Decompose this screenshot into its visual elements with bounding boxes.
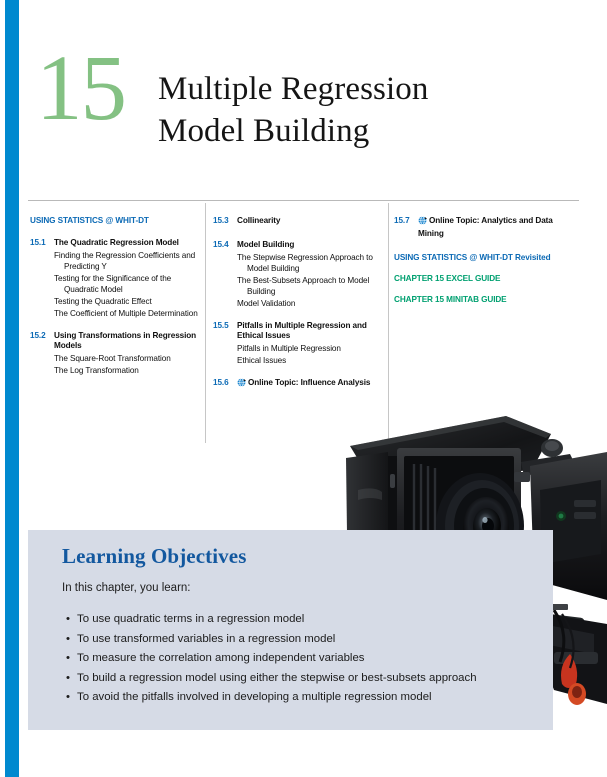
toc-entry-15-2[interactable]: 15.2 Using Transformations in Regression… <box>30 331 198 353</box>
learning-objectives-title: Learning Objectives <box>62 544 246 569</box>
toc-subentry[interactable]: The Square-Root Transformation <box>54 354 198 365</box>
toc-subentry[interactable]: The Stepwise Regression Approach to Mode… <box>237 253 381 275</box>
toc-section-number: 15.1 <box>30 238 54 249</box>
learning-objectives-intro: In this chapter, you learn: <box>62 582 191 594</box>
column-divider-1 <box>205 203 206 443</box>
chapter-title-line-1: Multiple Regression <box>158 69 428 111</box>
toc-section-number: 15.2 <box>30 331 54 353</box>
chapter-number: 15 <box>36 42 125 135</box>
chapter-header: 15 Multiple Regression Model Building <box>36 52 556 182</box>
toc-subentry[interactable]: The Coefficient of Multiple Determinatio… <box>54 309 198 320</box>
toc-section-title-text: Online Topic: Analytics and Data Mining <box>418 216 553 238</box>
toc-subentry[interactable]: Testing for the Significance of the Quad… <box>54 274 198 296</box>
toc-section-number: 15.5 <box>213 321 237 343</box>
using-statistics-header[interactable]: USING STATISTICS @ WHIT-DT <box>30 216 198 227</box>
textbook-chapter-opener-page: 15 Multiple Regression Model Building US… <box>0 0 607 777</box>
toc-section-number: 15.3 <box>213 216 237 227</box>
learning-objectives-list: To use quadratic terms in a regression m… <box>66 610 546 708</box>
globe-icon <box>418 216 427 229</box>
toc-section-title: Online Topic: Influence Analysis <box>237 378 370 391</box>
excel-guide-link[interactable]: CHAPTER 15 EXCEL GUIDE <box>394 274 576 285</box>
toc-entry-15-7[interactable]: 15.7 Online Topic: Analytics and Data Mi… <box>394 216 576 240</box>
toc-section-title-text: Online Topic: Influence Analysis <box>248 378 370 387</box>
list-item: To use transformed variables in a regres… <box>66 630 546 650</box>
toc-subentry[interactable]: Testing the Quadratic Effect <box>54 297 198 308</box>
toc-subentry[interactable]: The Best-Subsets Approach to Model Build… <box>237 276 381 298</box>
toc-entry-15-6[interactable]: 15.6 Online Topic: Influence Analysis <box>213 378 381 391</box>
minitab-guide-link[interactable]: CHAPTER 15 MINITAB GUIDE <box>394 295 576 306</box>
list-item: To measure the correlation among indepen… <box>66 649 546 669</box>
header-divider-rule <box>28 200 579 201</box>
toc-entry-15-4[interactable]: 15.4 Model Building <box>213 240 381 251</box>
toc-column-1: USING STATISTICS @ WHIT-DT 15.1 The Quad… <box>30 216 198 377</box>
using-statistics-revisited-link[interactable]: USING STATISTICS @ WHIT-DT Revisited <box>394 253 576 264</box>
toc-section-title: Collinearity <box>237 216 280 227</box>
toc-section-title: Pitfalls in Multiple Regression and Ethi… <box>237 321 381 343</box>
toc-subentry[interactable]: The Log Transformation <box>54 366 198 377</box>
toc-column-3: 15.7 Online Topic: Analytics and Data Mi… <box>394 216 576 306</box>
toc-entry-15-1[interactable]: 15.1 The Quadratic Regression Model <box>30 238 198 249</box>
toc-subentry[interactable]: Finding the Regression Coefficients and … <box>54 251 198 273</box>
toc-entry-15-5[interactable]: 15.5 Pitfalls in Multiple Regression and… <box>213 321 381 343</box>
page-title: Multiple Regression Model Building <box>158 69 428 152</box>
learning-objectives-box: Learning Objectives In this chapter, you… <box>28 530 553 730</box>
toc-section-title: Using Transformations in Regression Mode… <box>54 331 198 353</box>
list-item: To build a regression model using either… <box>66 669 546 689</box>
list-item: To avoid the pitfalls involved in develo… <box>66 688 546 708</box>
globe-icon <box>237 378 246 391</box>
toc-subentry[interactable]: Ethical Issues <box>237 356 381 367</box>
toc-section-number: 15.7 <box>394 216 418 240</box>
toc-section-title: Model Building <box>237 240 294 251</box>
list-item: To use quadratic terms in a regression m… <box>66 610 546 630</box>
toc-column-2: 15.3 Collinearity 15.4 Model Building Th… <box>213 216 381 393</box>
chapter-title-line-2: Model Building <box>158 111 428 153</box>
toc-section-number: 15.6 <box>213 378 237 391</box>
toc-subentry[interactable]: Pitfalls in Multiple Regression <box>237 344 381 355</box>
toc-subentry[interactable]: Model Validation <box>237 299 381 310</box>
toc-section-title: Online Topic: Analytics and Data Mining <box>418 216 576 240</box>
toc-section-number: 15.4 <box>213 240 237 251</box>
page-edge-blue-bar <box>5 0 19 777</box>
toc-section-title: The Quadratic Regression Model <box>54 238 179 249</box>
toc-entry-15-3[interactable]: 15.3 Collinearity <box>213 216 381 227</box>
